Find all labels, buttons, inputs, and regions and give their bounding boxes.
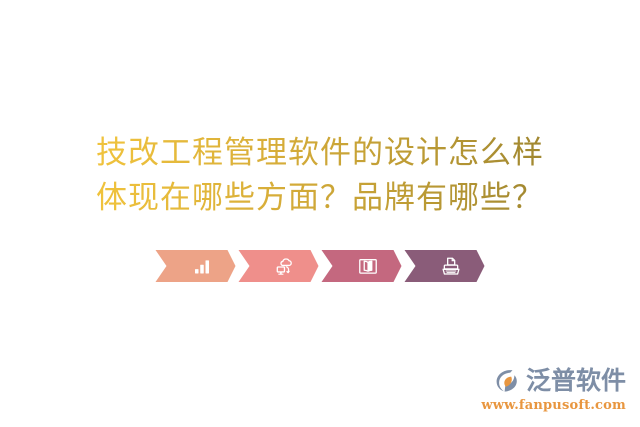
poster-canvas: 技改工程管理软件的设计怎么样 体现在哪些方面？品牌有哪些？	[0, 0, 640, 427]
logo-url: www.fanpusoft.com	[481, 398, 626, 414]
logo-name: 泛普软件	[526, 366, 626, 396]
cloud-sync-monitor-icon	[274, 256, 295, 277]
brand-logo[interactable]: 泛普软件 www.fanpusoft.com	[481, 365, 626, 414]
fanpu-swirl-logo-icon	[490, 365, 522, 397]
chevron-step-4[interactable]	[405, 250, 485, 282]
page-title: 技改工程管理软件的设计怎么样 体现在哪些方面？品牌有哪些？	[0, 131, 640, 221]
chevron-step-2[interactable]	[239, 250, 319, 282]
chevron-step-1[interactable]	[156, 250, 236, 282]
open-book-icon	[357, 256, 378, 277]
chevron-banner	[156, 250, 485, 282]
chevron-step-3[interactable]	[322, 250, 402, 282]
typewriter-icon	[440, 256, 461, 277]
logo-row: 泛普软件	[490, 365, 626, 397]
bar-chart-icon	[191, 256, 212, 277]
title-line-2: 体现在哪些方面？品牌有哪些？	[0, 176, 640, 221]
title-line-1: 技改工程管理软件的设计怎么样	[0, 131, 640, 176]
